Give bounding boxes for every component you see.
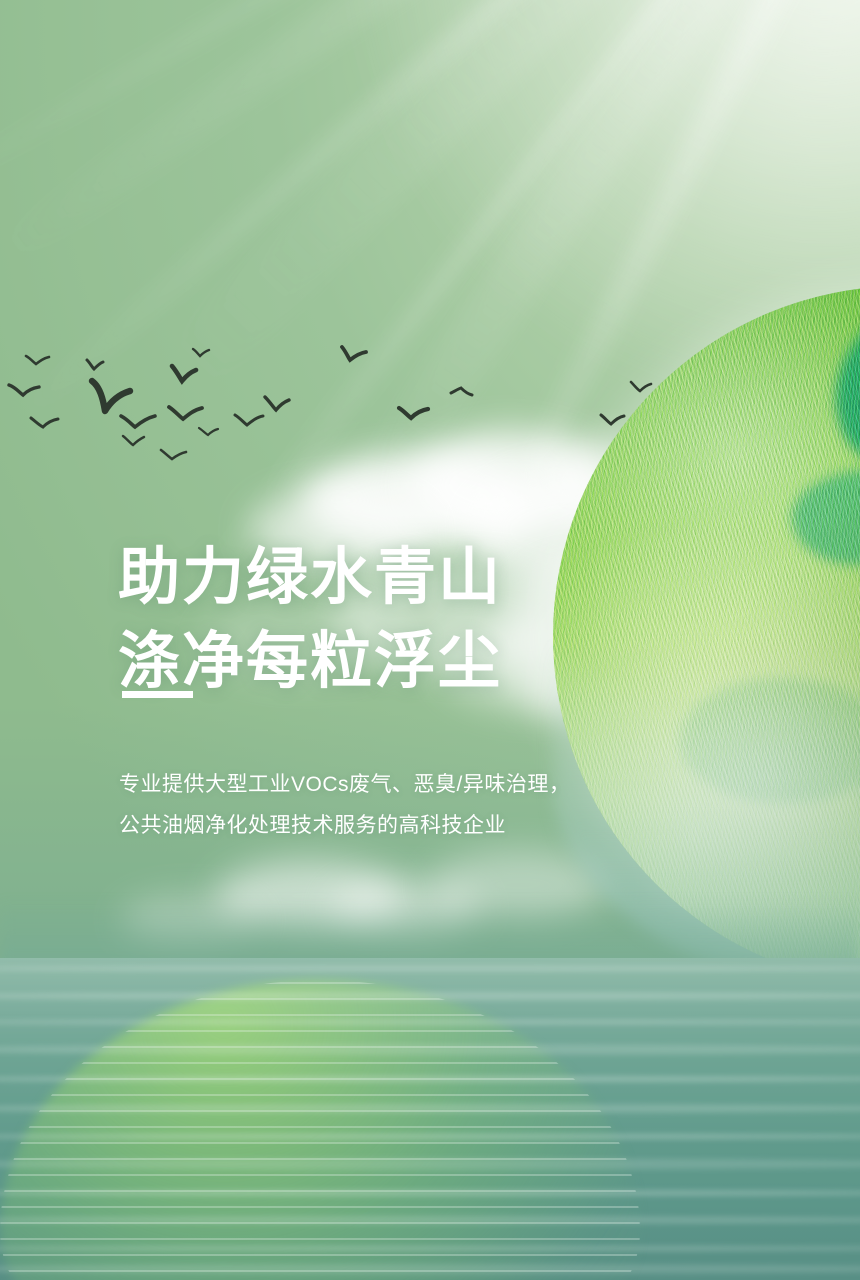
page-title: 助力绿水青山 涤净每粒浮尘 <box>118 536 502 704</box>
banner-content: 助力绿水青山 涤净每粒浮尘 专业提供大型工业VOCs废气、恶臭/异味治理， 公共… <box>0 0 860 1280</box>
hero-banner: 助力绿水青山 涤净每粒浮尘 专业提供大型工业VOCs废气、恶臭/异味治理， 公共… <box>0 0 860 1280</box>
title-divider <box>122 691 193 698</box>
headline-line-1: 助力绿水青山 <box>118 536 502 620</box>
subtitle-line-2: 公共油烟净化处理技术服务的高科技企业 <box>119 805 570 846</box>
subtitle: 专业提供大型工业VOCs废气、恶臭/异味治理， 公共油烟净化处理技术服务的高科技… <box>119 764 570 846</box>
subtitle-line-1: 专业提供大型工业VOCs废气、恶臭/异味治理， <box>119 764 570 805</box>
